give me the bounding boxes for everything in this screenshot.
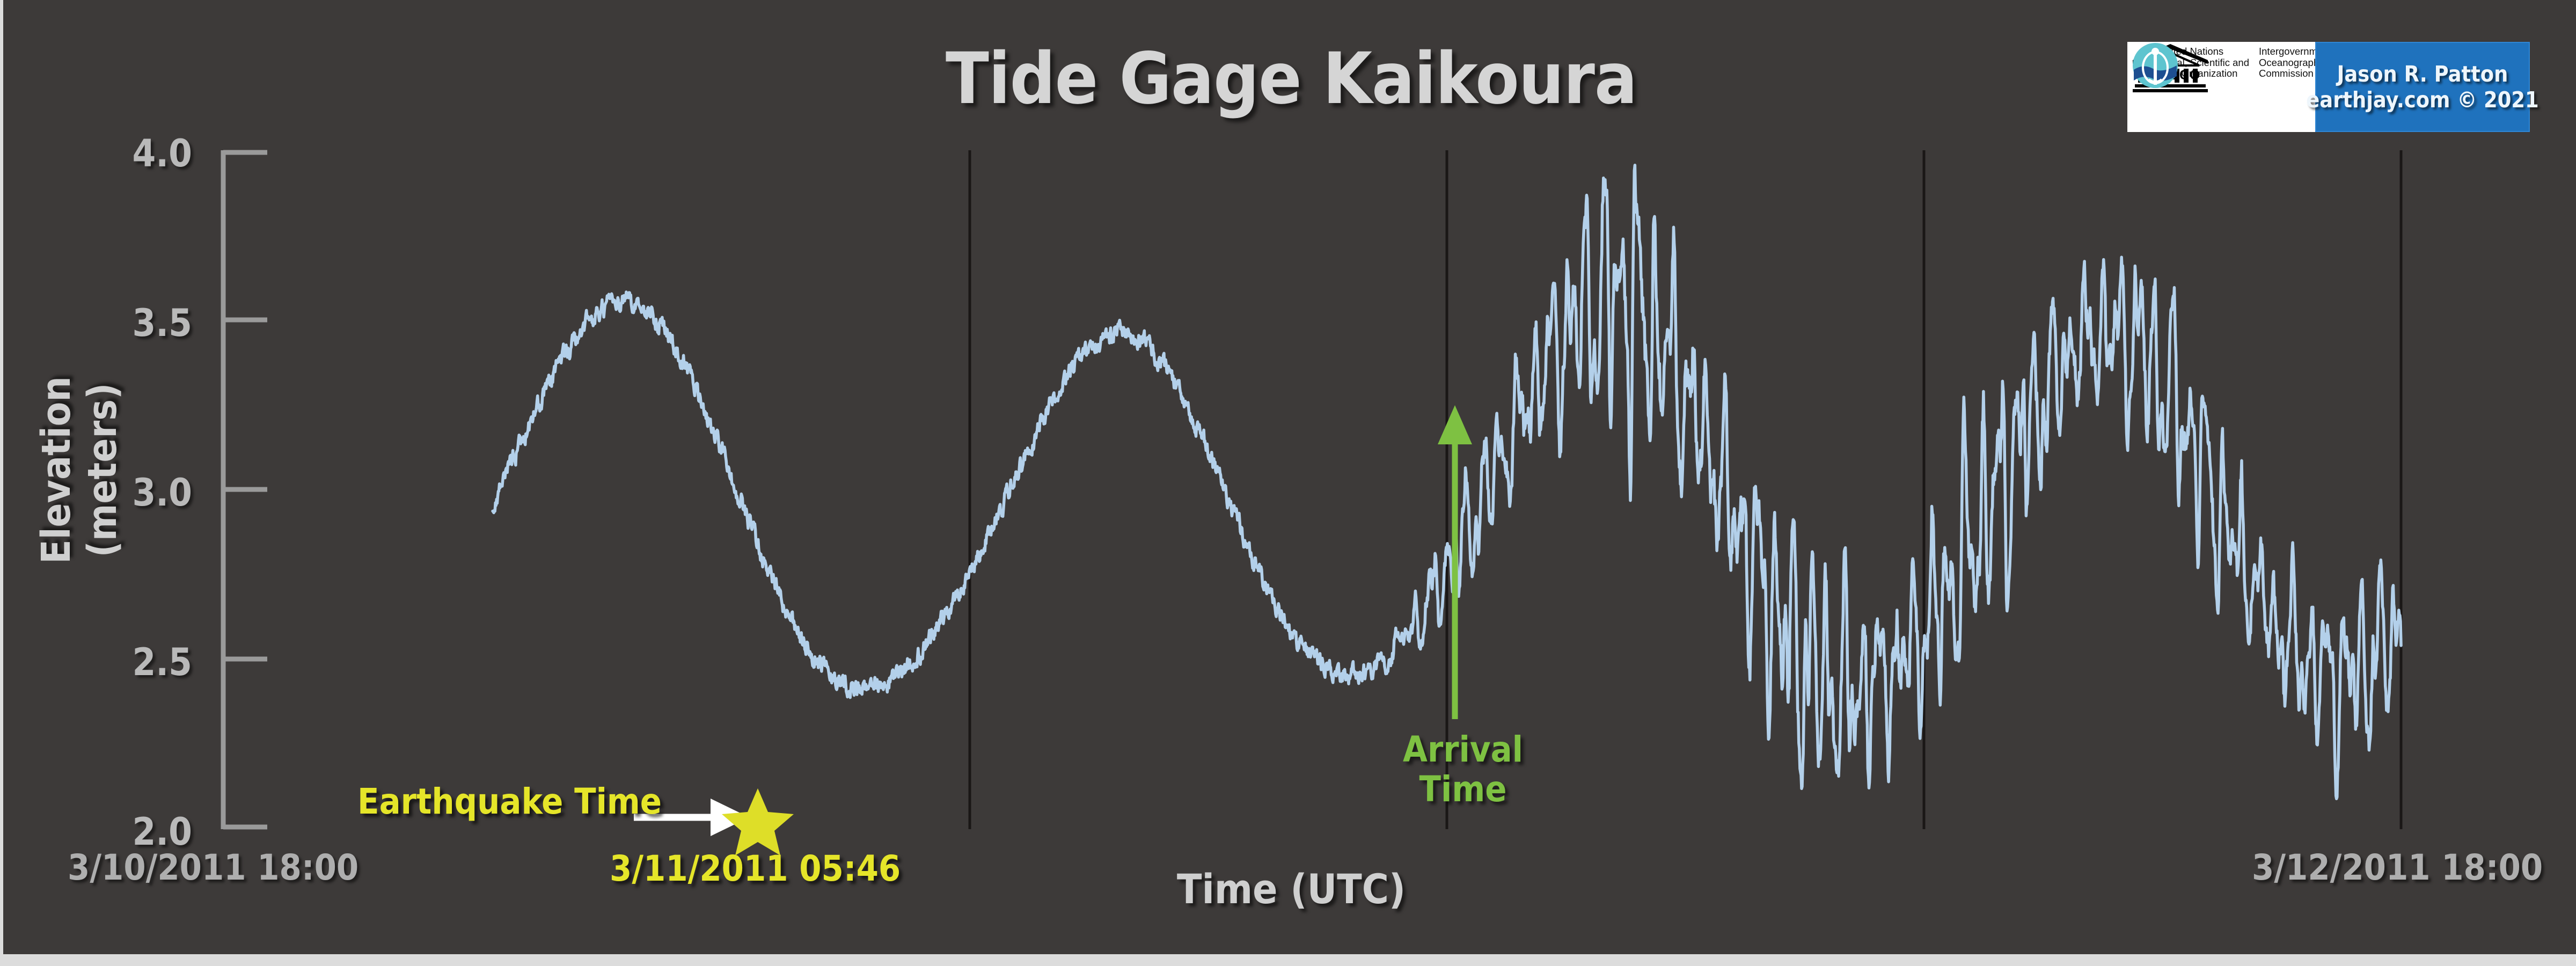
earthquake-time-value: 3/11/2011 05:46 <box>610 848 901 889</box>
earthquake-time-label: Earthquake Time <box>357 781 662 822</box>
y-axis-spine <box>223 150 267 829</box>
arrival-arrow <box>1438 405 1472 719</box>
earthquake-star <box>722 788 794 855</box>
gridlines <box>970 150 2401 829</box>
arrival-label-line2: Time <box>1377 770 1549 809</box>
arrival-label-line1: Arrival <box>1377 730 1549 770</box>
chart-canvas: Tide Gage Kaikoura UNESCO U <box>0 0 2576 966</box>
arrival-time-label: Arrival Time <box>1377 730 1549 809</box>
